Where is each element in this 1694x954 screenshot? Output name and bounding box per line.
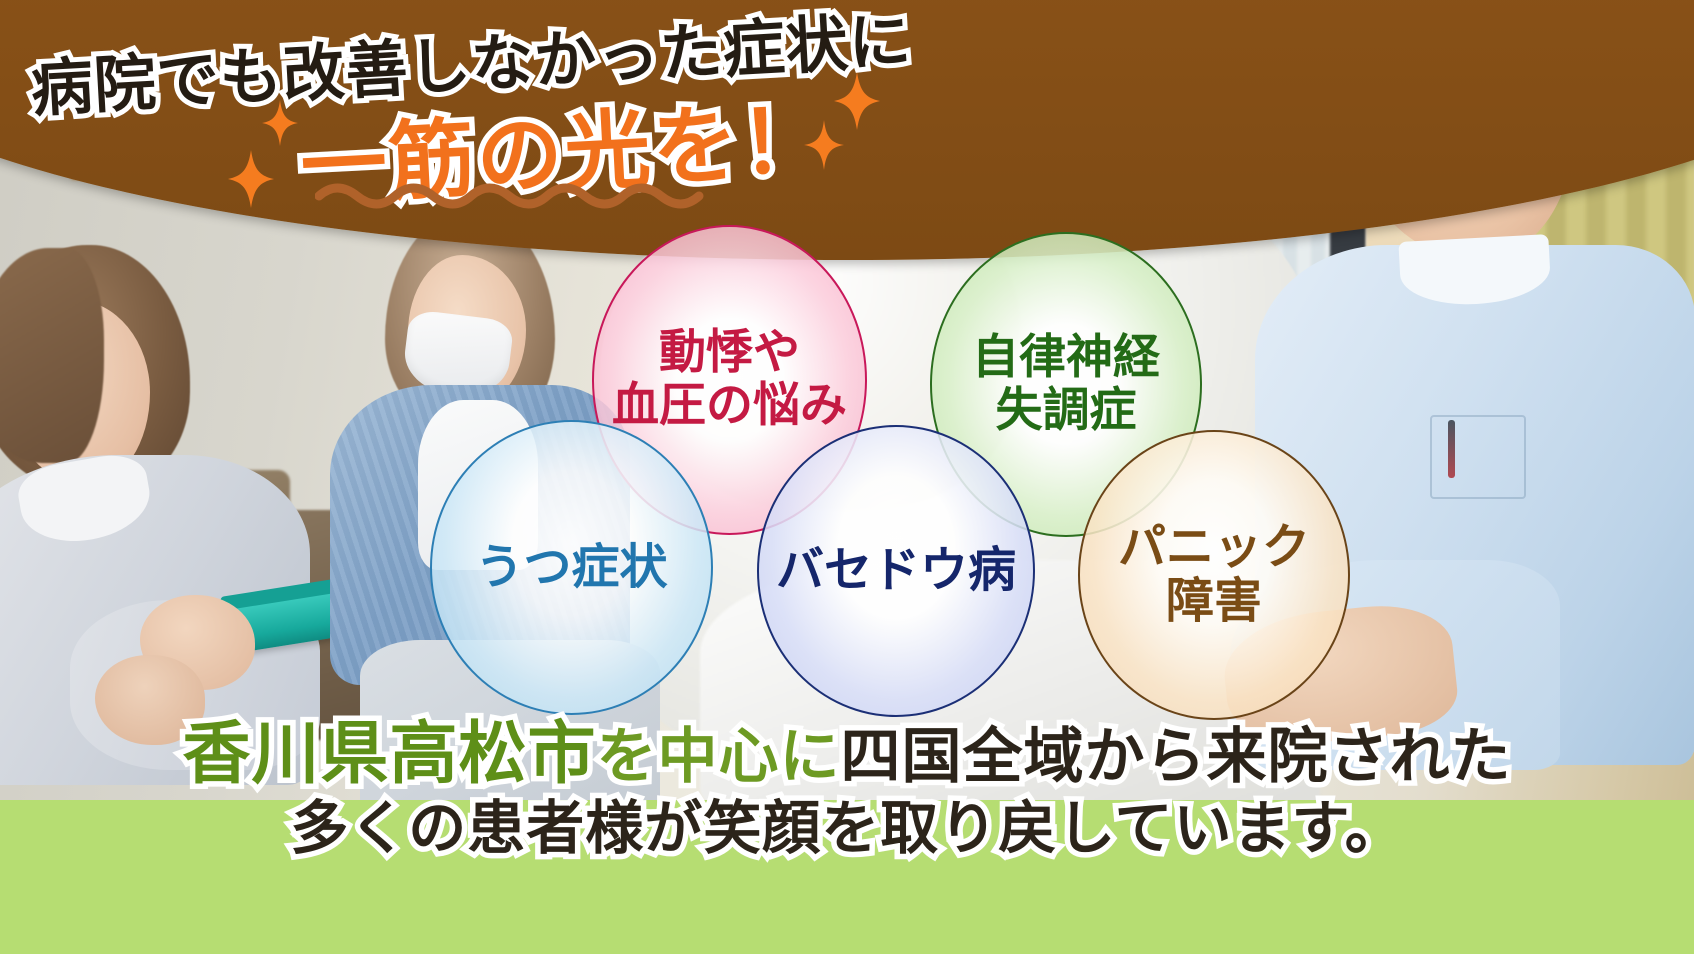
- bubble-label-line: パニック: [1118, 521, 1310, 575]
- clinician-hand-left: [95, 655, 205, 745]
- clinician-hair-front: [0, 248, 104, 463]
- bubble-label-line: バセドウ病: [776, 544, 1016, 598]
- bubble-label-line: 動悸や: [612, 327, 847, 380]
- bubble-label-line: 自律神経: [972, 332, 1160, 385]
- bubble-label-line: 血圧の悩み: [612, 380, 847, 433]
- symptom-bubble-panic-disorder[interactable]: パニック 障害: [1078, 430, 1350, 720]
- clinic-hero-banner: 病院でも改善しなかった症状に 一筋の光を！: [0, 0, 1694, 954]
- symptom-bubble-graves-disease[interactable]: バセドウ病: [757, 425, 1035, 717]
- bubble-label-line: うつ症状: [475, 541, 667, 595]
- bottom-green-bar: [0, 800, 1694, 954]
- symptom-bubble-depression[interactable]: うつ症状: [430, 420, 713, 715]
- bubble-label-line: 失調症: [972, 385, 1160, 438]
- therapist-pen: [1448, 420, 1455, 478]
- therapist-pocket: [1430, 415, 1526, 499]
- bubble-label-line: 障害: [1118, 575, 1310, 629]
